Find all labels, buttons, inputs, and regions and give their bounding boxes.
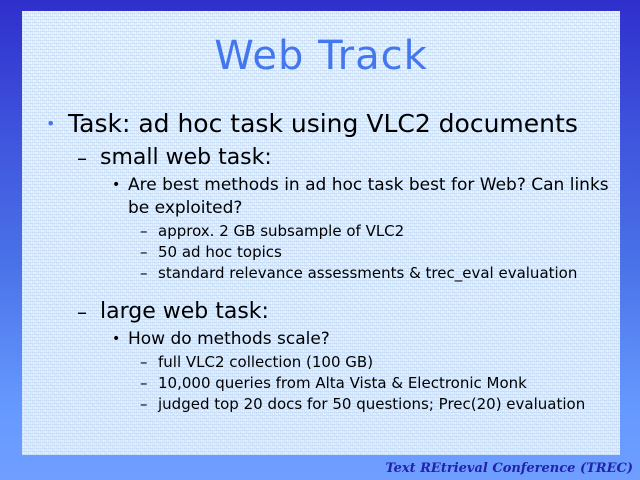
outline-item-text: judged top 20 docs for 50 questions; Pre… — [158, 394, 620, 415]
slide: Web Track • Task: ad hoc task using VLC2… — [0, 0, 640, 480]
outline-item-level1: • Task: ad hoc task using VLC2 documents — [22, 107, 620, 141]
bullet-dash-icon: – — [140, 352, 148, 373]
outline-item-text: small web task: — [100, 143, 620, 173]
outline-item-level4: – 10,000 queries from Alta Vista & Elect… — [22, 373, 620, 394]
outline-item-text: Task: ad hoc task using VLC2 documents — [68, 107, 620, 141]
bullet-dash-icon: – — [77, 143, 87, 173]
outline-item-level3: • How do methods scale? — [22, 328, 620, 351]
outline-item-level4: – approx. 2 GB subsample of VLC2 — [22, 221, 620, 242]
outline-item-level4: – judged top 20 docs for 50 questions; P… — [22, 394, 620, 415]
outline-item-level4: – standard relevance assessments & trec_… — [22, 263, 620, 284]
outline-item-text: large web task: — [100, 297, 620, 327]
bullet-dash-icon: – — [140, 373, 148, 394]
slide-title: Web Track — [22, 33, 620, 79]
outline-item-text: full VLC2 collection (100 GB) — [158, 352, 620, 373]
bullet-dot-icon: • — [112, 174, 120, 197]
outline-item-level4: – full VLC2 collection (100 GB) — [22, 352, 620, 373]
outline-item-text: How do methods scale? — [128, 328, 620, 351]
bullet-dash-icon: – — [77, 297, 87, 327]
slide-body-outline: • Task: ad hoc task using VLC2 documents… — [22, 107, 620, 415]
bullet-dot-icon: • — [112, 328, 120, 351]
outline-item-level3: • Are best methods in ad hoc task best f… — [22, 174, 620, 220]
outline-item-level2: – large web task: — [22, 297, 620, 327]
outline-item-text: standard relevance assessments & trec_ev… — [158, 263, 620, 284]
bullet-dash-icon: – — [140, 242, 148, 263]
outline-item-level4: – 50 ad hoc topics — [22, 242, 620, 263]
bullet-dot-icon: • — [46, 107, 55, 141]
outline-item-level2: – small web task: — [22, 143, 620, 173]
bullet-dash-icon: – — [140, 394, 148, 415]
outline-item-text: Are best methods in ad hoc task best for… — [128, 174, 620, 220]
outline-item-text: 50 ad hoc topics — [158, 242, 620, 263]
outline-item-text: 10,000 queries from Alta Vista & Electro… — [158, 373, 620, 394]
bullet-dash-icon: – — [140, 221, 148, 242]
slide-content-panel: Web Track • Task: ad hoc task using VLC2… — [22, 11, 620, 455]
outline-item-text: approx. 2 GB subsample of VLC2 — [158, 221, 620, 242]
bullet-dash-icon: – — [140, 263, 148, 284]
slide-footer: Text REtrieval Conference (TREC) — [385, 460, 633, 478]
